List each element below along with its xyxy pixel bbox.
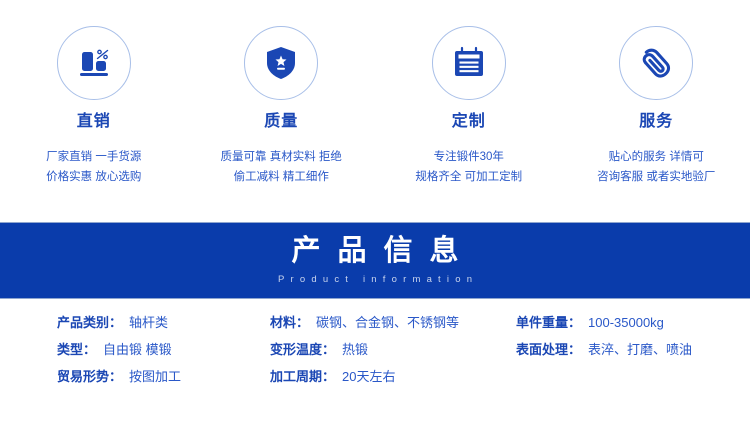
spec-value: 表淬、打磨、喷油 [588,343,692,356]
spec-column-2: 材料： 碳钢、合金钢、不锈钢等 变形温度： 热锻 加工周期： 20天左右 [262,316,512,421]
feature-description: 贴心的服务 详情可 咨询客服 或者实地验厂 [597,148,715,187]
feature-title: 服务 [639,114,673,130]
spec-label: 类型： [57,343,96,356]
spec-value: 100-35000kg [588,316,664,329]
shield-star-icon [264,45,298,81]
banner-top-edge [0,222,750,223]
feature-title: 定制 [452,114,486,130]
spec-row: 产品类别： 轴杆类 [57,316,262,329]
spec-label: 材料： [270,316,309,329]
feature-title: 质量 [264,114,298,130]
spec-row: 单件重量： 100-35000kg [516,316,750,329]
spec-value: 碳钢、合金钢、不锈钢等 [316,316,459,329]
feature-description: 专注锻件30年 规格齐全 可加工定制 [415,148,522,187]
feature-item-customization: 定制 专注锻件30年 规格齐全 可加工定制 [375,26,563,187]
features-strip: 直销 厂家直销 一手货源 价格实惠 放心选购 质量 质量可靠 真材实料 拒绝 偷… [0,0,750,187]
feature-item-service: 服务 贴心的服务 详情可 咨询客服 或者实地验厂 [563,26,750,187]
banner-subtitle: Product information [272,275,478,285]
product-spec-table: 产品类别： 轴杆类 类型： 自由锻 模锻 贸易形势： 按图加工 材料： 碳钢、合… [0,299,750,421]
feature-description-line-2: 偷工减料 精工细作 [221,168,342,188]
feature-item-direct-sales: 直销 厂家直销 一手货源 价格实惠 放心选购 [0,26,188,187]
spec-value: 自由锻 模锻 [103,343,172,356]
spec-row: 类型： 自由锻 模锻 [57,343,262,356]
spec-label: 单件重量： [516,316,581,329]
feature-description-line-1: 质量可靠 真材实料 拒绝 [221,148,342,168]
feature-description-line-1: 专注锻件30年 [415,148,522,168]
spec-label: 贸易形势： [57,370,122,383]
spec-row: 表面处理： 表淬、打磨、喷油 [516,343,750,356]
feature-icon-circle [244,26,318,100]
product-information-banner: 产品信息 Product information [0,222,750,299]
clipboard-document-icon [451,46,487,80]
spec-column-3: 单件重量： 100-35000kg 表面处理： 表淬、打磨、喷油 [512,316,750,421]
feature-icon-circle [57,26,131,100]
feature-title: 直销 [77,114,111,130]
feature-item-quality: 质量 质量可靠 真材实料 拒绝 偷工减料 精工细作 [188,26,376,187]
spec-value: 20天左右 [342,370,395,383]
feature-description-line-2: 咨询客服 或者实地验厂 [597,168,715,188]
feature-description-line-2: 规格齐全 可加工定制 [415,168,522,188]
feature-description-line-1: 厂家直销 一手货源 [46,148,141,168]
spec-row: 贸易形势： 按图加工 [57,370,262,383]
spec-label: 产品类别： [57,316,122,329]
feature-icon-circle [432,26,506,100]
spec-row: 材料： 碳钢、合金钢、不锈钢等 [270,316,512,329]
spec-value: 按图加工 [129,370,181,383]
paperclip-icon [638,45,674,81]
discount-bar-chart-icon [76,46,112,80]
spec-row: 加工周期： 20天左右 [270,370,512,383]
spec-label: 表面处理： [516,343,581,356]
feature-description-line-2: 价格实惠 放心选购 [46,168,141,188]
feature-description-line-1: 贴心的服务 详情可 [597,148,715,168]
spec-row: 变形温度： 热锻 [270,343,512,356]
spec-value: 轴杆类 [129,316,168,329]
banner-title: 产品信息 [274,237,475,266]
spec-label: 变形温度： [270,343,335,356]
feature-icon-circle [619,26,693,100]
spec-value: 热锻 [342,343,368,356]
spec-column-1: 产品类别： 轴杆类 类型： 自由锻 模锻 贸易形势： 按图加工 [0,316,262,421]
feature-description: 质量可靠 真材实料 拒绝 偷工减料 精工细作 [221,148,342,187]
spec-label: 加工周期： [270,370,335,383]
feature-description: 厂家直销 一手货源 价格实惠 放心选购 [46,148,141,187]
